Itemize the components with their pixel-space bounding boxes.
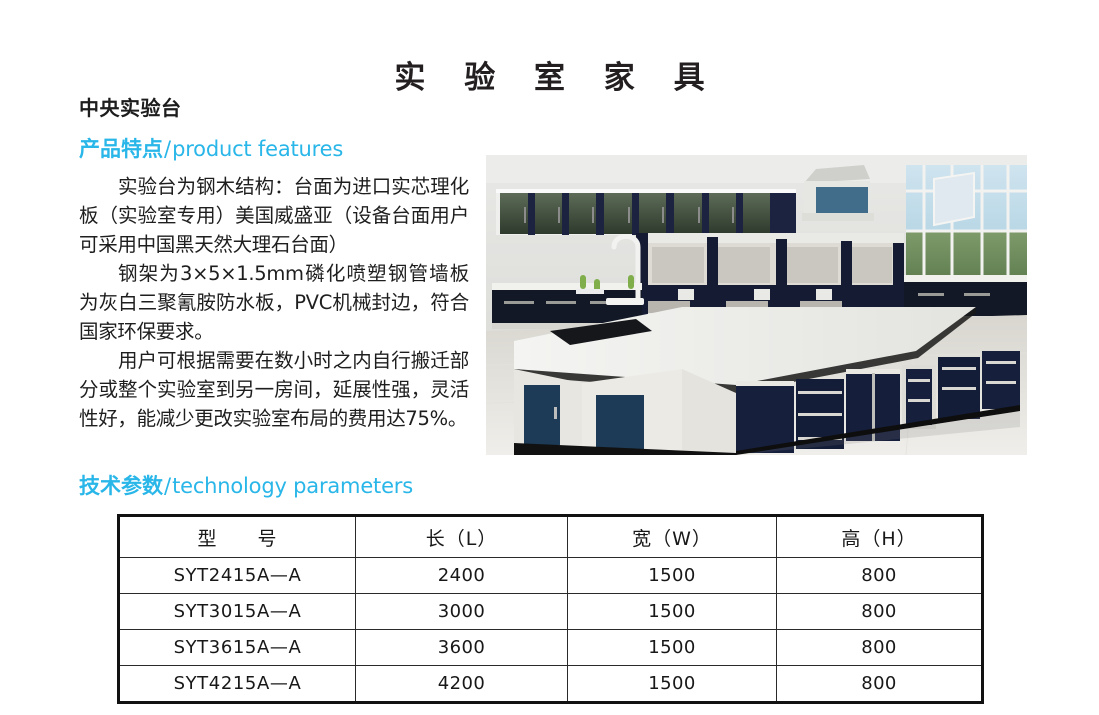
tech-params-heading-zh: 技术参数 <box>79 474 163 498</box>
cell-height: 800 <box>777 666 983 703</box>
table-row: SYT3015A—A 3000 1500 800 <box>119 594 983 630</box>
tech-params-heading-en: technology parameters <box>172 474 413 498</box>
tech-params-heading: 技术参数/technology parameters <box>79 474 413 499</box>
product-features-heading-zh: 产品特点 <box>79 137 163 161</box>
cell-height: 800 <box>777 594 983 630</box>
cell-model: SYT3015A—A <box>119 594 356 630</box>
lab-bench-photo-illustration <box>486 155 1027 455</box>
feature-paragraph-1: 实验台为钢木结构：台面为进口实芯理化板（实验室专用）美国威盛亚（设备台面用户可采… <box>79 172 469 259</box>
cell-width: 1500 <box>568 558 777 594</box>
page-title: 实 验 室 家 具 <box>0 52 1099 97</box>
cell-width: 1500 <box>568 630 777 666</box>
column-header-length: 长（L） <box>356 516 568 558</box>
product-features-heading-separator: / <box>163 137 172 161</box>
product-features-body: 实验台为钢木结构：台面为进口实芯理化板（实验室专用）美国威盛亚（设备台面用户可采… <box>79 172 469 433</box>
cell-model: SYT2415A—A <box>119 558 356 594</box>
table-row: SYT4215A—A 4200 1500 800 <box>119 666 983 703</box>
table-header-row: 型 号 长（L） 宽（W） 高（H） <box>119 516 983 558</box>
cell-model: SYT4215A—A <box>119 666 356 703</box>
cell-width: 1500 <box>568 594 777 630</box>
table-row: SYT2415A—A 2400 1500 800 <box>119 558 983 594</box>
spec-table: 型 号 长（L） 宽（W） 高（H） SYT2415A—A 2400 1500 … <box>117 514 984 704</box>
feature-paragraph-3: 用户可根据需要在数小时之内自行搬迁部分或整个实验室到另一房间，延展性强，灵活性好… <box>79 346 469 433</box>
cell-length: 2400 <box>356 558 568 594</box>
cell-model: SYT3615A—A <box>119 630 356 666</box>
left-column: 中央实验台 产品特点/product features 实验台为钢木结构：台面为… <box>79 96 469 433</box>
product-features-heading: 产品特点/product features <box>79 137 469 162</box>
column-header-width: 宽（W） <box>568 516 777 558</box>
section-title: 中央实验台 <box>79 96 469 120</box>
column-header-height: 高（H） <box>777 516 983 558</box>
lab-bench-photo <box>486 155 1027 455</box>
feature-paragraph-2: 钢架为3×5×1.5mm磷化喷塑钢管墙板为灰白三聚氰胺防水板，PVC机械封边，符… <box>79 259 469 346</box>
table-row: SYT3615A—A 3600 1500 800 <box>119 630 983 666</box>
cell-length: 4200 <box>356 666 568 703</box>
cell-height: 800 <box>777 558 983 594</box>
product-features-heading-en: product features <box>172 137 343 161</box>
spec-table-container: 型 号 长（L） 宽（W） 高（H） SYT2415A—A 2400 1500 … <box>117 514 981 704</box>
cell-length: 3600 <box>356 630 568 666</box>
cell-width: 1500 <box>568 666 777 703</box>
cell-height: 800 <box>777 630 983 666</box>
column-header-model: 型 号 <box>119 516 356 558</box>
tech-params-heading-separator: / <box>163 474 172 498</box>
cell-length: 3000 <box>356 594 568 630</box>
